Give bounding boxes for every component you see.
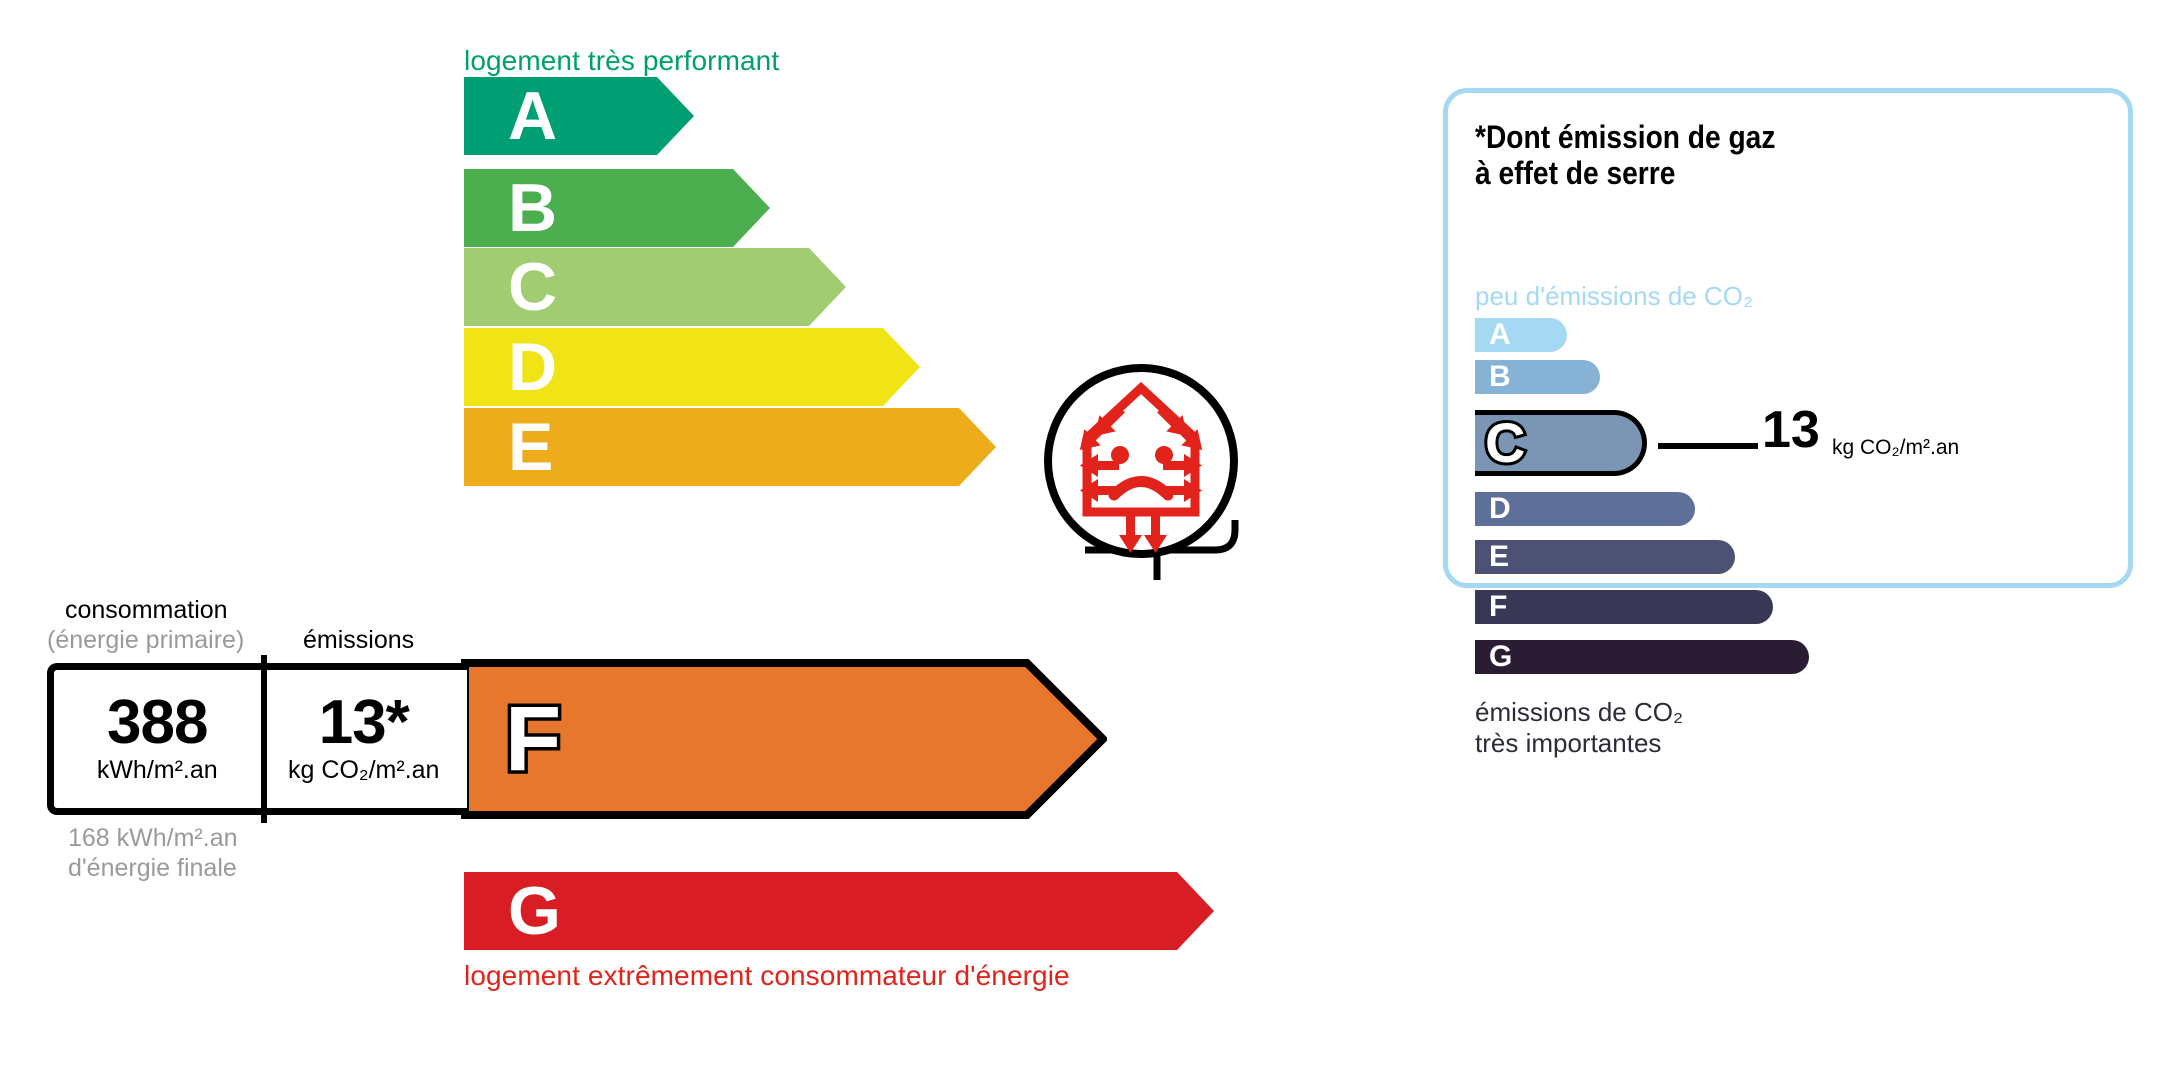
- energy-band-g-letter: G: [508, 877, 561, 945]
- consumption-label: consommation: [65, 596, 228, 625]
- co2-bar-d-letter: D: [1489, 494, 1511, 524]
- energy-band-f[interactable]: F: [461, 659, 1107, 819]
- energy-band-g[interactable]: G: [464, 872, 1214, 950]
- energy-band-g-shape: [464, 872, 1214, 950]
- emissions-label: émissions: [303, 626, 414, 655]
- energy-band-f-letter: F: [505, 693, 561, 785]
- co2-bar-b[interactable]: B: [1475, 360, 1600, 394]
- emissions-value: 13*: [261, 693, 468, 754]
- energy-band-e[interactable]: E: [464, 408, 996, 486]
- co2-bar-d[interactable]: D: [1475, 492, 1695, 526]
- energy-scale-bottom-caption: logement extrêmement consommateur d'éner…: [464, 960, 1070, 992]
- co2-bar-a-letter: A: [1489, 320, 1511, 350]
- consumption-cell: 388 kWh/m².an: [54, 693, 261, 785]
- consumption-sublabel: (énergie primaire): [47, 626, 244, 655]
- emissions-cell: 13* kg CO₂/m².an: [261, 693, 468, 785]
- energy-band-d[interactable]: D: [464, 328, 920, 406]
- energy-scale-top-caption: logement très performant: [464, 45, 779, 77]
- energy-band-b-letter: B: [508, 174, 557, 242]
- co2-scale-bottom-caption: émissions de CO₂ très importantes: [1475, 697, 1683, 758]
- co2-bar-c-letter: C: [1485, 415, 1525, 471]
- energy-performance-chart: logement très performant logement extrêm…: [0, 0, 1440, 1079]
- co2-bar-g[interactable]: G: [1475, 640, 1809, 674]
- energy-band-a-letter: A: [508, 82, 557, 150]
- consumption-unit: kWh/m².an: [54, 756, 261, 785]
- energy-band-d-letter: D: [508, 333, 557, 401]
- co2-scale-top-caption: peu d'émissions de CO₂: [1475, 281, 1753, 312]
- co2-value-unit: kg CO₂/m².an: [1832, 436, 1959, 460]
- co2-bar-e-letter: E: [1489, 542, 1509, 572]
- emissions-unit: kg CO₂/m².an: [261, 756, 468, 785]
- co2-value-leader-line: [1658, 443, 1758, 449]
- energy-band-c[interactable]: C: [464, 248, 846, 326]
- co2-panel-title: *Dont émission de gaz à effet de serre: [1475, 120, 1775, 192]
- co2-bar-b-letter: B: [1489, 362, 1511, 392]
- value-summary-box: 388 kWh/m².an 13* kg CO₂/m².an: [47, 663, 467, 815]
- energy-band-c-letter: C: [508, 253, 557, 321]
- final-energy-footnote: 168 kWh/m².an d'énergie finale: [68, 824, 238, 883]
- sad-house-heat-loss-icon: [1040, 360, 1250, 580]
- co2-bar-g-letter: G: [1489, 642, 1512, 672]
- energy-band-a-shape: [464, 77, 694, 155]
- energy-band-e-letter: E: [508, 413, 553, 481]
- co2-bar-c[interactable]: C: [1475, 410, 1647, 476]
- dpe-diagram: logement très performant logement extrêm…: [0, 0, 2169, 1079]
- co2-bar-a[interactable]: A: [1475, 318, 1567, 352]
- energy-band-a[interactable]: A: [464, 77, 694, 155]
- co2-bar-f[interactable]: F: [1475, 590, 1773, 624]
- co2-bar-e[interactable]: E: [1475, 540, 1735, 574]
- consumption-value: 388: [54, 693, 261, 754]
- co2-bar-f-letter: F: [1489, 592, 1507, 622]
- energy-band-b[interactable]: B: [464, 169, 770, 247]
- co2-value: 13: [1762, 404, 1820, 456]
